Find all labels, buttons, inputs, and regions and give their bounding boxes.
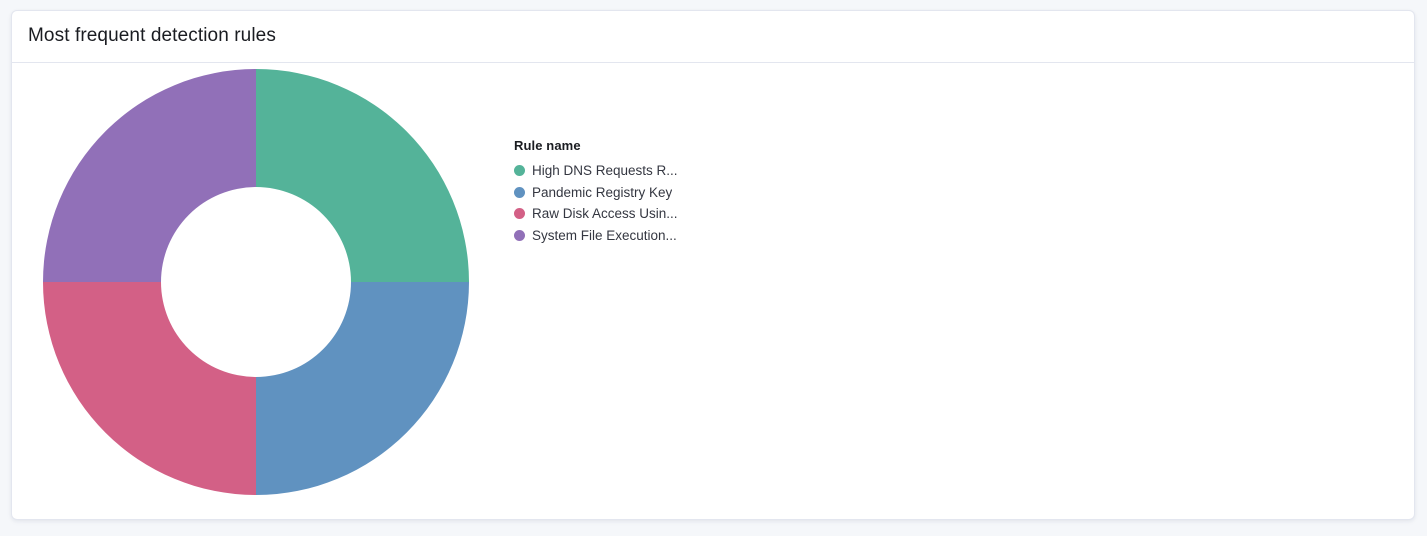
legend-color-swatch-icon [514, 230, 525, 241]
donut-slice-group [43, 69, 469, 495]
legend-list: High DNS Requests R...Pandemic Registry … [514, 160, 724, 246]
legend-color-swatch-icon [514, 187, 525, 198]
legend-item-label: System File Execution... [532, 225, 677, 246]
donut-chart [41, 67, 471, 497]
chart-legend: Rule name High DNS Requests R...Pandemic… [514, 138, 724, 246]
legend-color-swatch-icon [514, 208, 525, 219]
panel-body: Rule name High DNS Requests R...Pandemic… [12, 63, 1414, 520]
legend-item[interactable]: Raw Disk Access Usin... [514, 203, 724, 225]
donut-slice[interactable] [43, 69, 256, 282]
donut-slice[interactable] [256, 282, 469, 495]
legend-item[interactable]: System File Execution... [514, 225, 724, 247]
donut-chart-area [12, 63, 502, 520]
legend-item-label: Pandemic Registry Key [532, 182, 672, 203]
legend-title: Rule name [514, 138, 724, 154]
legend-color-swatch-icon [514, 165, 525, 176]
legend-item-label: High DNS Requests R... [532, 160, 678, 181]
most-frequent-detection-rules-panel: Most frequent detection rules Rule name … [11, 10, 1415, 520]
legend-item[interactable]: High DNS Requests R... [514, 160, 724, 182]
page-title: Most frequent detection rules [28, 25, 276, 48]
panel-header: Most frequent detection rules [12, 11, 1414, 63]
legend-item[interactable]: Pandemic Registry Key [514, 182, 724, 204]
donut-slice[interactable] [256, 69, 469, 282]
donut-slice[interactable] [43, 282, 256, 495]
legend-item-label: Raw Disk Access Usin... [532, 203, 678, 224]
